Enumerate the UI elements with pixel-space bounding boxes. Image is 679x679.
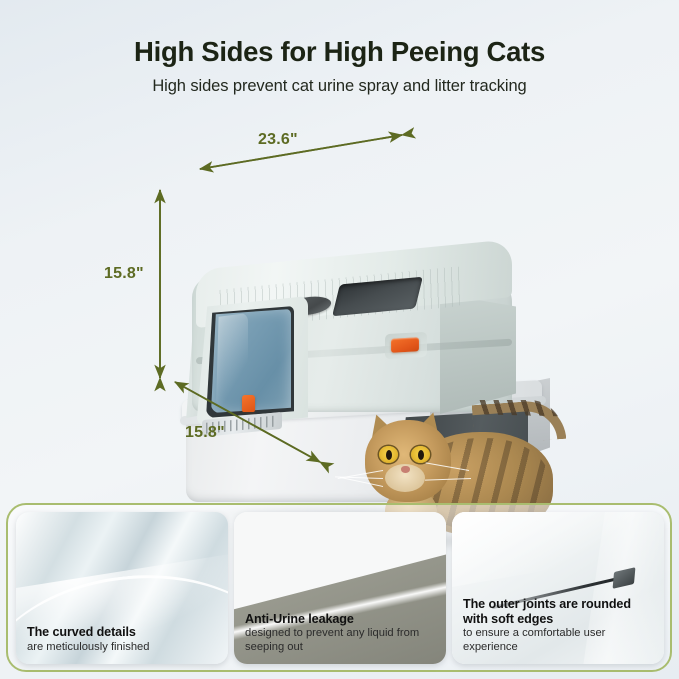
feature-title: The outer joints are rounded with soft e… — [463, 597, 655, 626]
feature-subtitle: designed to prevent any liquid from seep… — [245, 627, 437, 654]
header: High Sides for High Peeing Cats High sid… — [0, 36, 679, 96]
feature-cards: The curved details are meticulously fini… — [16, 512, 664, 664]
page-title: High Sides for High Peeing Cats — [0, 36, 679, 68]
feature-title: The curved details — [27, 625, 219, 640]
feature-subtitle: to ensure a comfortable user experience — [463, 627, 655, 654]
page-subtitle: High sides prevent cat urine spray and l… — [0, 77, 679, 96]
feature-card-anti-urine-leakage[interactable]: Anti-Urine leakage designed to prevent a… — [234, 512, 446, 664]
feature-card-text: The outer joints are rounded with soft e… — [463, 597, 655, 654]
dimension-arrows — [0, 110, 679, 495]
feature-card-rounded-outer-joints[interactable]: The outer joints are rounded with soft e… — [452, 512, 664, 664]
feature-card-text: The curved details are meticulously fini… — [27, 625, 219, 654]
feature-card-text: Anti-Urine leakage designed to prevent a… — [245, 612, 437, 654]
dimension-depth-label: 15.8" — [185, 424, 225, 442]
dimension-height-label: 15.8" — [104, 265, 144, 283]
feature-subtitle: are meticulously finished — [27, 641, 219, 654]
feature-card-curved-details[interactable]: The curved details are meticulously fini… — [16, 512, 228, 664]
dimension-width-label: 23.6" — [258, 131, 298, 149]
product-hero-scene: 23.6" 15.8" 15.8" — [0, 110, 679, 495]
feature-title: Anti-Urine leakage — [245, 612, 437, 627]
